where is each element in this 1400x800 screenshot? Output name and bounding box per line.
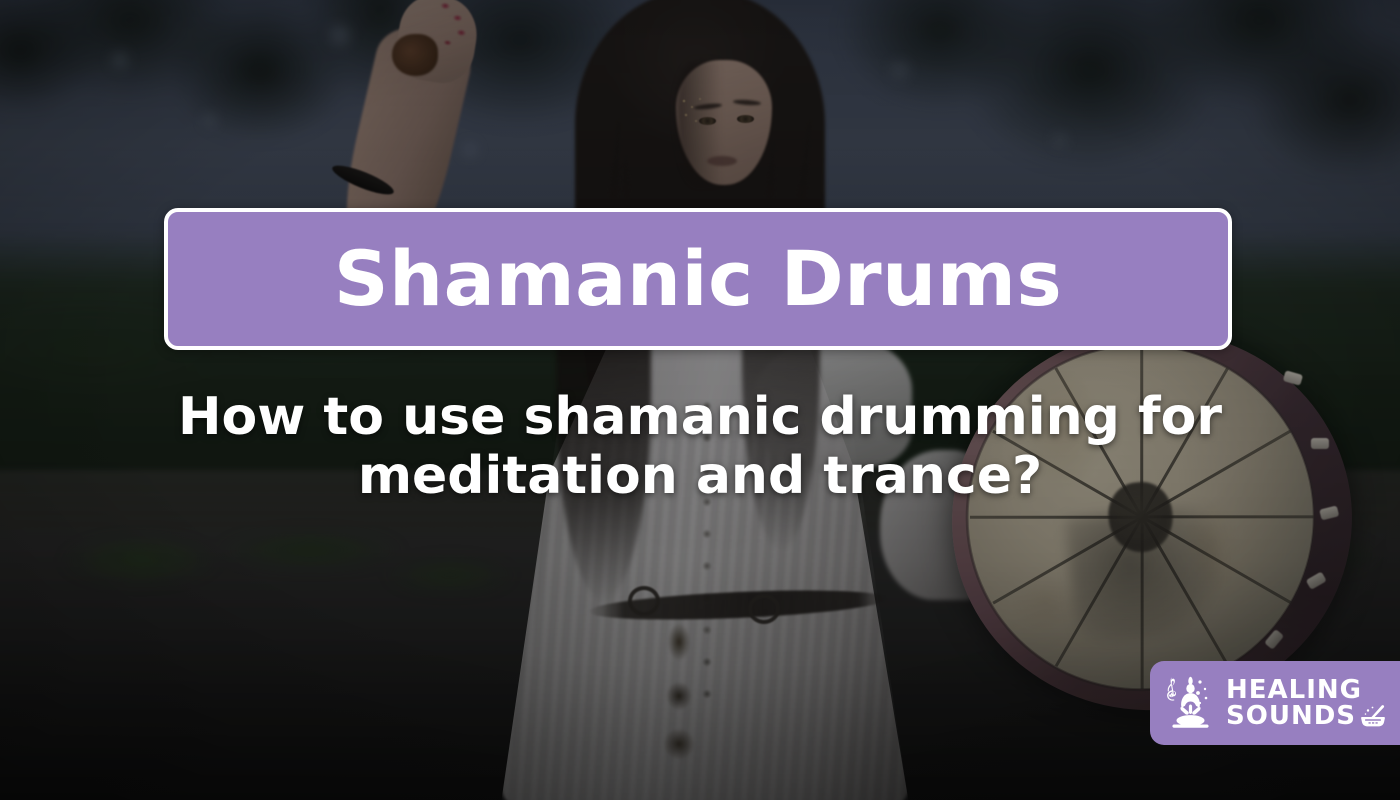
title-card: Shamanic Drums: [164, 208, 1232, 350]
meditating-person-icon: [1164, 674, 1220, 732]
brand-line-sounds: SOUNDS: [1226, 703, 1356, 729]
brand-line-sounds-row: SOUNDS: [1226, 703, 1387, 729]
overlay-content: Shamanic Drums How to use shamanic drumm…: [0, 0, 1400, 800]
lotus-pose-figure: [1172, 677, 1208, 728]
subtitle-line-1: How to use shamanic drumming for: [120, 388, 1280, 447]
subtitle-line-2: meditation and trance?: [120, 447, 1280, 506]
subtitle-block: How to use shamanic drumming for meditat…: [120, 388, 1280, 506]
treble-clef-icon: [1167, 677, 1176, 700]
brand-wordmark: HEALING SOUNDS: [1226, 677, 1387, 729]
brand-line-healing: HEALING: [1226, 677, 1387, 703]
brand-badge[interactable]: HEALING SOUNDS: [1150, 661, 1400, 745]
singing-bowl-icon: [1359, 704, 1387, 728]
page-title: Shamanic Drums: [334, 241, 1062, 317]
featured-image-canvas: Shamanic Drums How to use shamanic drumm…: [0, 0, 1400, 800]
